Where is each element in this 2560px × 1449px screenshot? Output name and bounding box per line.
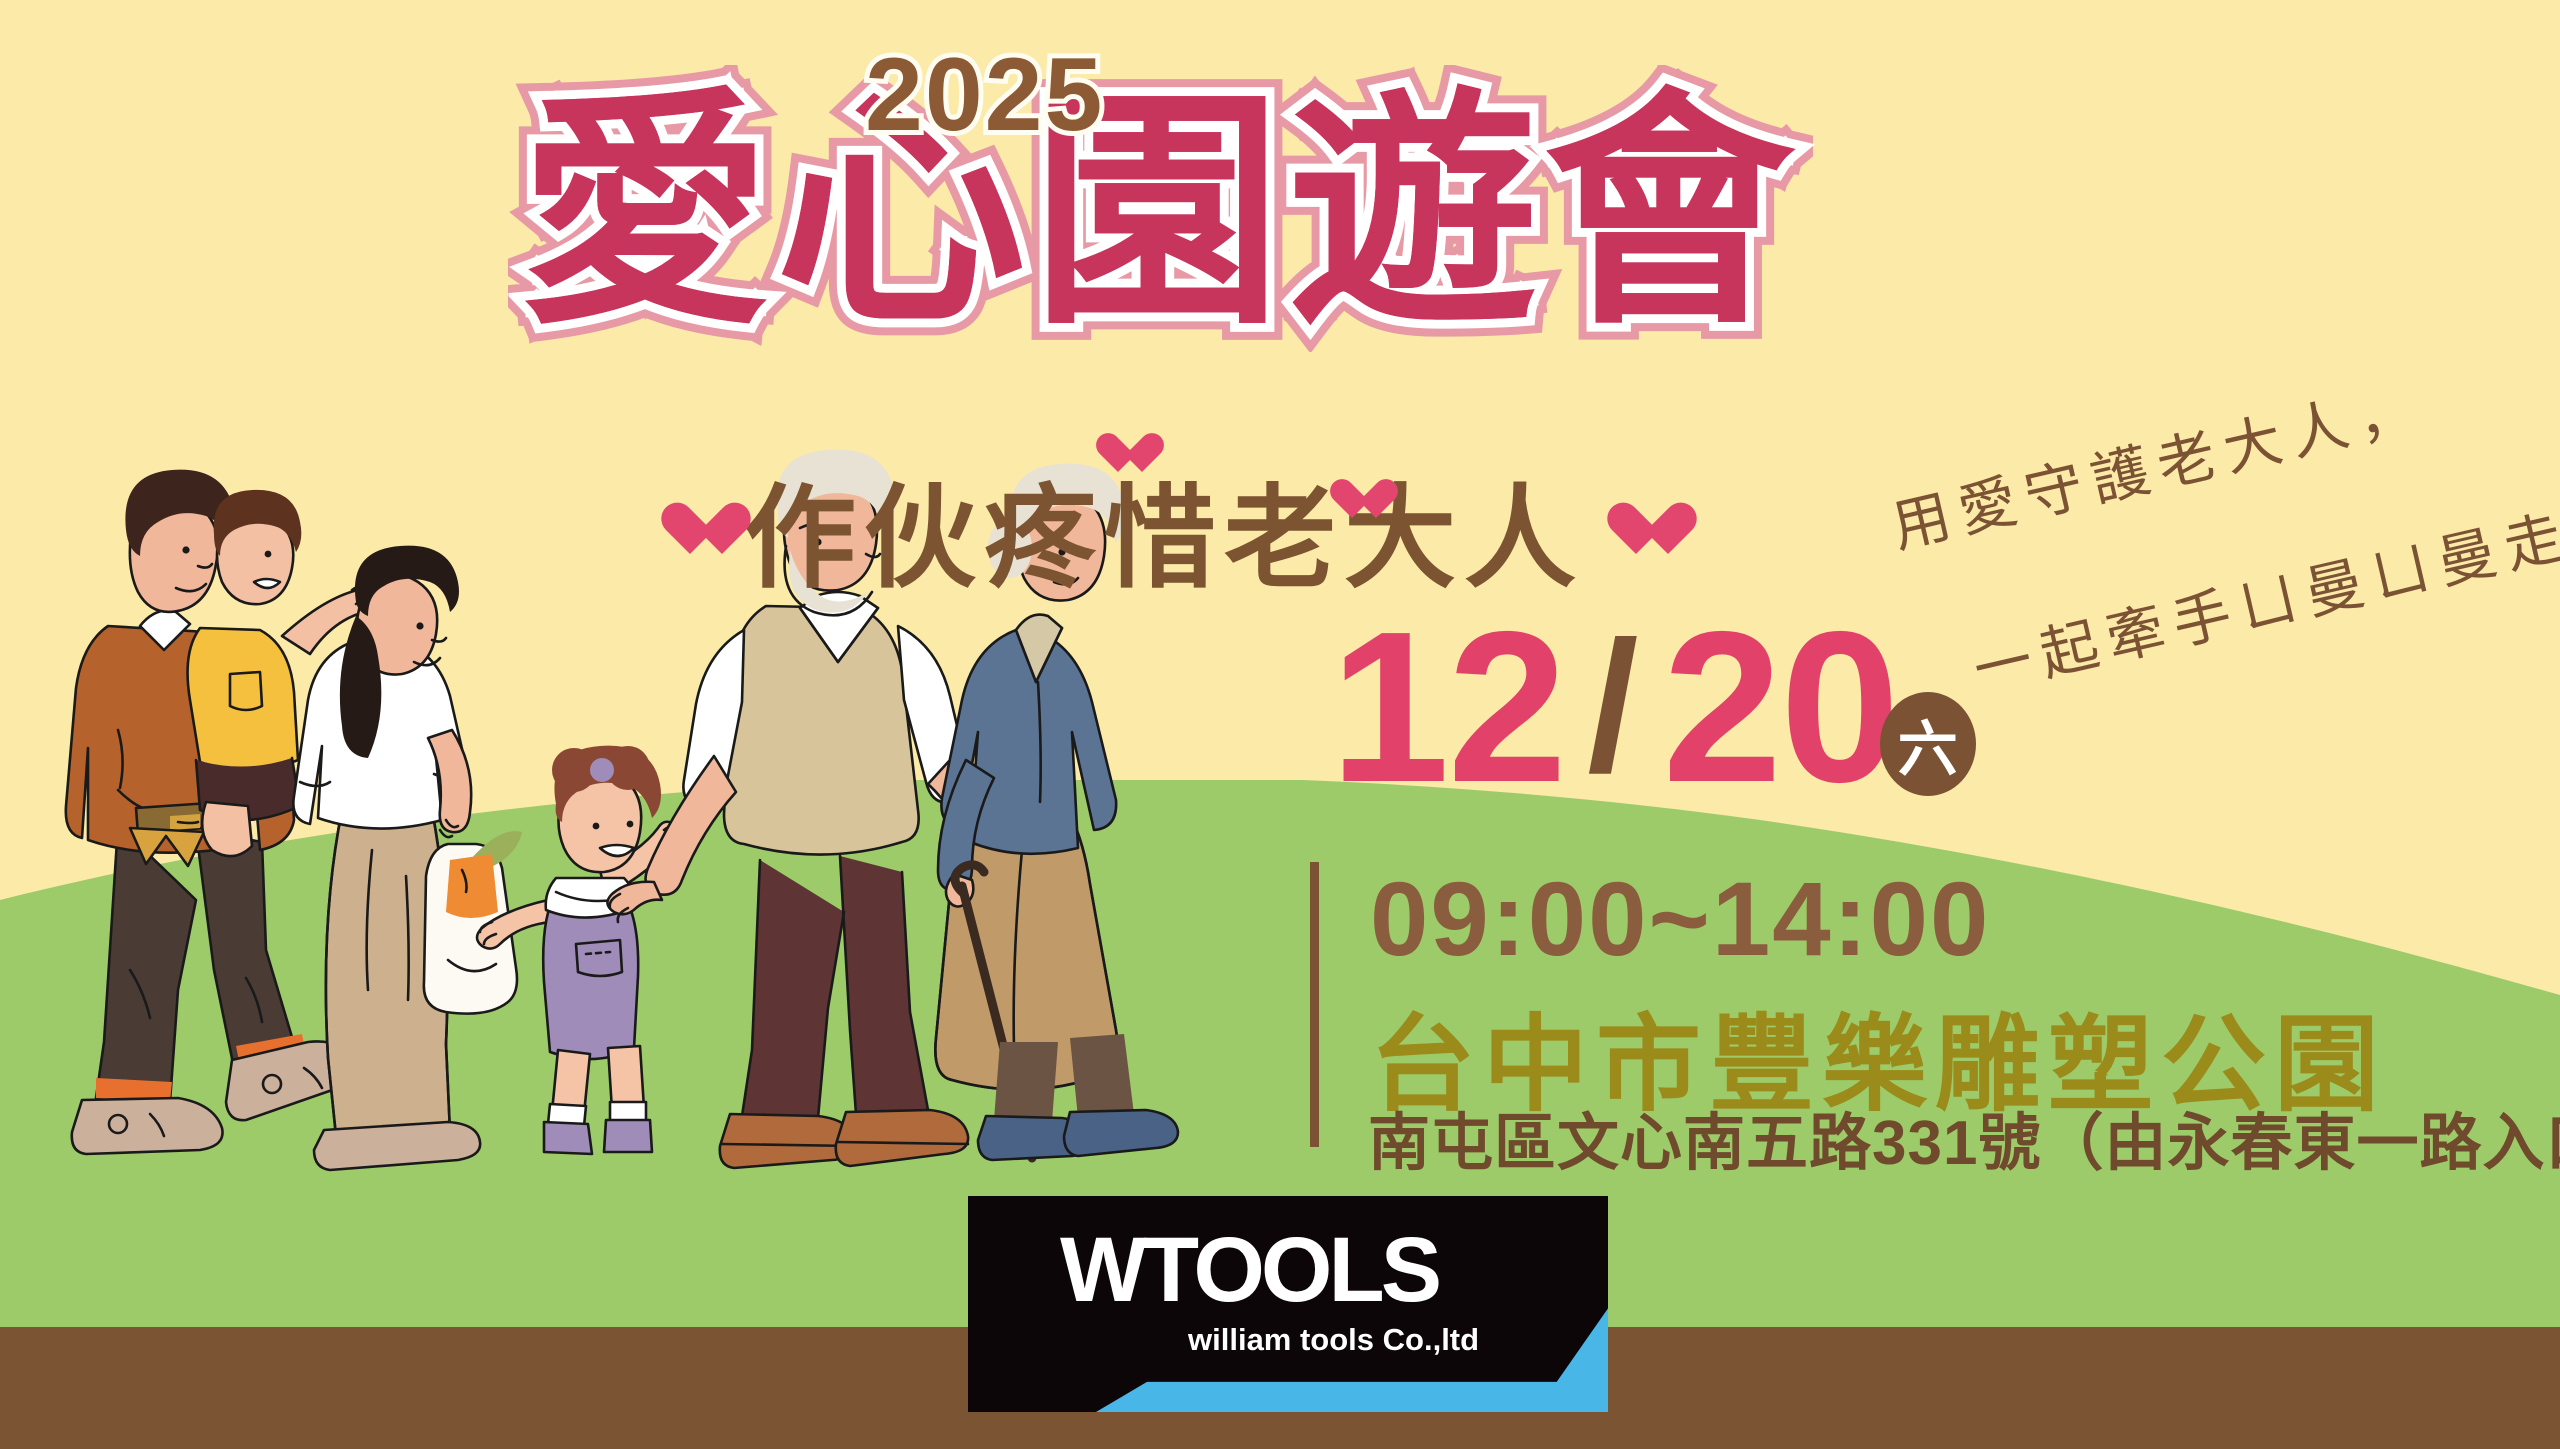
heart-icon-float-b	[1330, 474, 1376, 520]
main-title: 愛心園遊會	[520, 88, 1940, 338]
weekday-label: 六	[1898, 701, 1958, 788]
logo-brand: WTOOLS	[1060, 1222, 1479, 1318]
event-month: 12	[1330, 612, 1565, 802]
event-address: 南屯區文心南五路331號（由永春東一路入口）	[1368, 1092, 2560, 1182]
event-day: 20	[1663, 612, 1898, 802]
event-poster: 愛心園遊會 愛心園遊會 愛心園遊會 2025 作伙疼惜老大人 用愛守護老大人， …	[0, 0, 2560, 1449]
event-date-row: 12 / 20 六	[1330, 612, 1976, 802]
heart-icon-right	[1606, 498, 1668, 560]
year-label: 2025	[865, 36, 1104, 155]
sponsor-logo-text: WTOOLS william tools Co.,ltd	[1060, 1222, 1479, 1358]
logo-tagline: william tools Co.,ltd	[1188, 1322, 1479, 1358]
heart-icon-left	[660, 498, 722, 560]
heart-icon-float-a	[1096, 428, 1142, 474]
info-divider	[1310, 862, 1319, 1147]
date-separator: /	[1565, 612, 1662, 802]
weekday-badge: 六	[1880, 692, 1976, 796]
event-time: 09:00~14:00	[1370, 860, 1990, 980]
title-block: 愛心園遊會 愛心園遊會 愛心園遊會 2025	[520, 18, 1940, 388]
